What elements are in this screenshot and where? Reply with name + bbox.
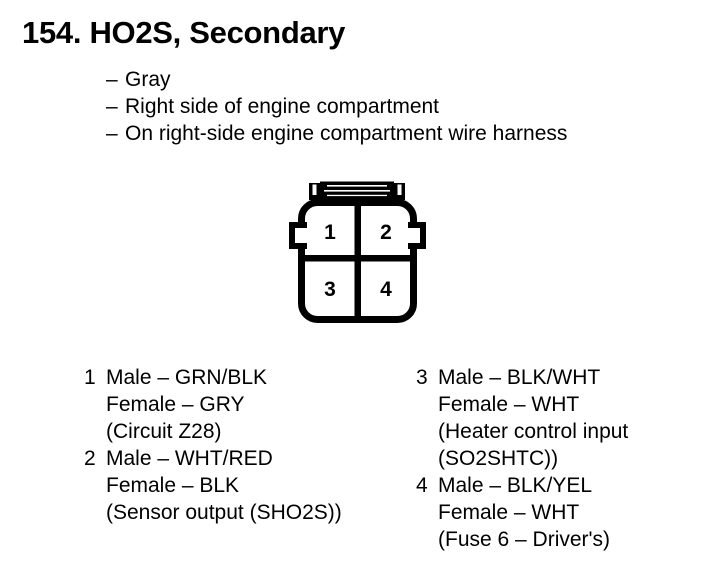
dash-bullet-icon: – — [106, 120, 125, 147]
cavity-label-3: 3 — [324, 278, 336, 301]
pin-number: 4 — [416, 472, 438, 499]
cavity-label-4: 4 — [380, 278, 392, 301]
pin-description-line: Male – BLK/YEL — [438, 472, 696, 499]
attribute-label: Gray — [125, 66, 171, 93]
pin-number: 3 — [416, 364, 438, 391]
pin-legend-item: 4 Male – BLK/YEL Female – WHT (Fuse 6 – … — [416, 472, 696, 553]
connector-drawing: 1 2 3 4 — [270, 178, 445, 328]
pin-description-line: Male – BLK/WHT — [438, 364, 696, 391]
connector-left-tab-icon — [292, 225, 309, 246]
attribute-label: On right-side engine compartment wire ha… — [125, 120, 567, 147]
pin-description-line: (Circuit Z28) — [106, 418, 394, 445]
attribute-item: – Gray — [106, 66, 686, 93]
attribute-item: – Right side of engine compartment — [106, 93, 686, 120]
pin-description-line: Male – WHT/RED — [106, 445, 394, 472]
pin-description: Male – WHT/RED Female – BLK (Sensor outp… — [106, 445, 394, 526]
pin-description-line: (Sensor output (SHO2S)) — [106, 499, 394, 526]
pin-description-line: Female – WHT — [438, 499, 696, 526]
pin-legend-left-column: 1 Male – GRN/BLK Female – GRY (Circuit Z… — [84, 364, 394, 526]
attribute-label: Right side of engine compartment — [125, 93, 439, 120]
cavity-label-2: 2 — [380, 221, 392, 244]
pin-description-line: Male – GRN/BLK — [106, 364, 394, 391]
pin-description-line: (SO2SHTC)) — [438, 445, 696, 472]
pin-number: 1 — [84, 364, 106, 391]
pin-description-line: Female – BLK — [106, 472, 394, 499]
pin-description: Male – GRN/BLK Female – GRY (Circuit Z28… — [106, 364, 394, 445]
pin-description: Male – BLK/YEL Female – WHT (Fuse 6 – Dr… — [438, 472, 696, 553]
attribute-list: – Gray – Right side of engine compartmen… — [106, 66, 686, 147]
pin-description-line: Female – WHT — [438, 391, 696, 418]
attribute-item: – On right-side engine compartment wire … — [106, 120, 686, 147]
pin-description: Male – BLK/WHT Female – WHT (Heater cont… — [438, 364, 696, 472]
connector-right-tab-icon — [406, 225, 423, 246]
cavity-divider-horizontal — [302, 255, 413, 262]
pin-description-line: (Heater control input — [438, 418, 696, 445]
pin-description-line: (Fuse 6 – Driver's) — [438, 526, 696, 553]
connector-diagram: 1 2 3 4 — [270, 178, 445, 328]
pin-legend-right-column: 3 Male – BLK/WHT Female – WHT (Heater co… — [416, 364, 696, 553]
dash-bullet-icon: – — [106, 66, 125, 93]
cavity-label-1: 1 — [324, 221, 336, 244]
page-title: 154. HO2S, Secondary — [22, 17, 345, 48]
pin-description-line: Female – GRY — [106, 391, 394, 418]
pin-legend-item: 2 Male – WHT/RED Female – BLK (Sensor ou… — [84, 445, 394, 526]
pin-number: 2 — [84, 445, 106, 472]
dash-bullet-icon: – — [106, 93, 125, 120]
pin-legend-item: 1 Male – GRN/BLK Female – GRY (Circuit Z… — [84, 364, 394, 445]
pin-legend-item: 3 Male – BLK/WHT Female – WHT (Heater co… — [416, 364, 696, 472]
